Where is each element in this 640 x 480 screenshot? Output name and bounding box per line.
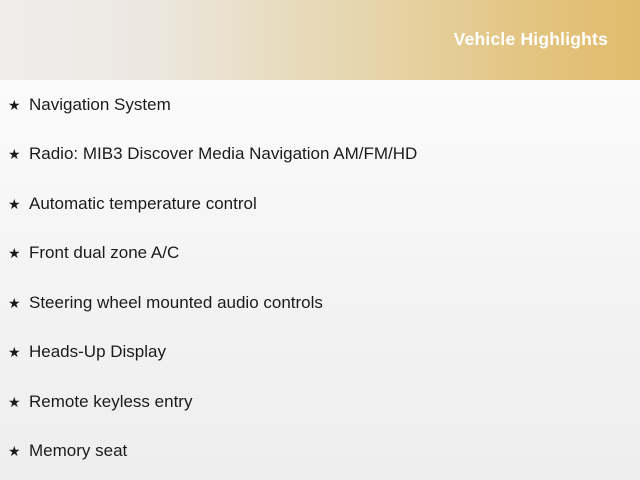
vehicle-highlights-list: ★ Navigation System ★ Radio: MIB3 Discov… bbox=[0, 80, 640, 476]
list-item: ★ Heads-Up Display bbox=[0, 328, 640, 378]
page-title: Vehicle Highlights bbox=[454, 31, 608, 49]
list-item: ★ Navigation System bbox=[0, 80, 640, 130]
star-icon: ★ bbox=[8, 197, 29, 211]
star-icon: ★ bbox=[8, 147, 29, 161]
highlight-label: Steering wheel mounted audio controls bbox=[29, 293, 640, 313]
star-icon: ★ bbox=[8, 444, 29, 458]
vehicle-highlights-page: Vehicle Highlights ★ Navigation System ★… bbox=[0, 0, 640, 480]
highlight-label: Navigation System bbox=[29, 95, 640, 115]
highlight-label: Automatic temperature control bbox=[29, 194, 640, 214]
highlight-label: Radio: MIB3 Discover Media Navigation AM… bbox=[29, 144, 640, 164]
star-icon: ★ bbox=[8, 296, 29, 310]
highlight-label: Remote keyless entry bbox=[29, 392, 640, 412]
list-item: ★ Memory seat bbox=[0, 427, 640, 477]
star-icon: ★ bbox=[8, 395, 29, 409]
list-item: ★ Radio: MIB3 Discover Media Navigation … bbox=[0, 130, 640, 180]
star-icon: ★ bbox=[8, 345, 29, 359]
highlight-label: Front dual zone A/C bbox=[29, 243, 640, 263]
star-icon: ★ bbox=[8, 246, 29, 260]
star-icon: ★ bbox=[8, 98, 29, 112]
header-banner: Vehicle Highlights bbox=[0, 0, 640, 80]
highlight-label: Memory seat bbox=[29, 441, 640, 461]
list-item: ★ Remote keyless entry bbox=[0, 377, 640, 427]
highlight-label: Heads-Up Display bbox=[29, 342, 640, 362]
list-item: ★ Steering wheel mounted audio controls bbox=[0, 278, 640, 328]
list-item: ★ Automatic temperature control bbox=[0, 179, 640, 229]
list-item: ★ Front dual zone A/C bbox=[0, 229, 640, 279]
